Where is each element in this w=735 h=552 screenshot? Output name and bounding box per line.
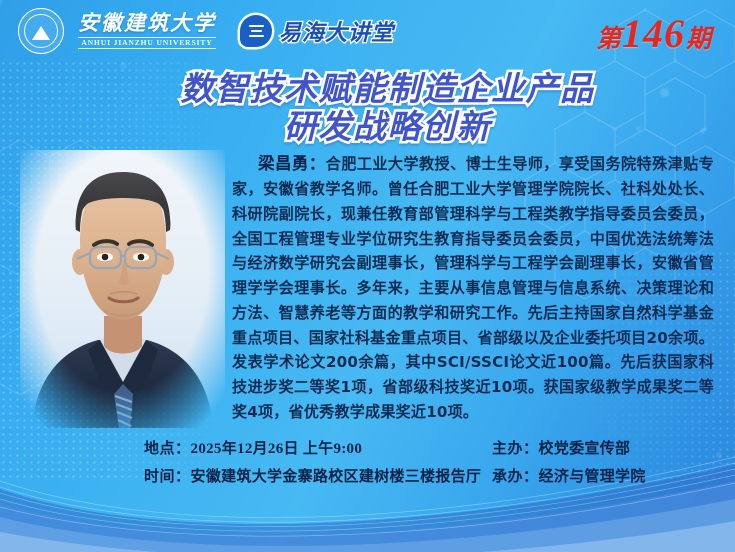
speaker-bio-text: 合肥工业大学教授、博士生导师，享受国务院特殊津贴专家，安徽省教学名师。曾任合肥工… bbox=[232, 155, 714, 421]
poster-header: 安徽建筑大学 ANHUI JIANZHU UNIVERSITY 易海大讲堂 bbox=[18, 8, 394, 54]
event-organizer-value: 校党委宣传部 bbox=[539, 441, 631, 457]
university-name-en: ANHUI JIANZHU UNIVERSITY bbox=[78, 37, 216, 49]
university-name: 安徽建筑大学 ANHUI JIANZHU UNIVERSITY bbox=[78, 13, 216, 49]
lecture-title: 数智技术赋能制造企业产品 研发战略创新 bbox=[0, 70, 735, 147]
lecture-brand-name: 易海大讲堂 bbox=[279, 15, 394, 47]
event-time-value: 安徽建筑大学金寨路校区建树楼三楼报告厅 bbox=[191, 469, 482, 485]
issue-badge: 第 146 期 bbox=[596, 14, 711, 54]
speaker-name: 梁昌勇： bbox=[258, 154, 326, 173]
university-name-cn: 安徽建筑大学 bbox=[78, 13, 216, 34]
event-organizer-field: 主办：校党委宣传部 bbox=[492, 437, 630, 458]
event-time-field: 时间：安徽建筑大学金寨路校区建树楼三楼报告厅 bbox=[144, 465, 492, 486]
issue-prefix: 第 bbox=[596, 26, 621, 51]
issue-suffix: 期 bbox=[686, 26, 711, 51]
university-seal-icon bbox=[18, 8, 64, 54]
speaker-bio: 梁昌勇：合肥工业大学教授、博士生导师，享受国务院特殊津贴专家，安徽省教学名师。曾… bbox=[232, 150, 714, 425]
event-host-field: 承办：经济与管理学院 bbox=[492, 465, 646, 486]
event-info: 地点：2025年12月26日 上午9:00 主办：校党委宣传部 时间：安徽建筑大… bbox=[144, 437, 724, 493]
event-location-label: 地点： bbox=[144, 441, 191, 457]
event-organizer-label: 主办： bbox=[492, 441, 539, 457]
title-line-1: 数智技术赋能制造企业产品 bbox=[40, 70, 735, 108]
title-line-2: 研发战略创新 bbox=[40, 108, 735, 146]
event-host-value: 经济与管理学院 bbox=[539, 469, 646, 485]
event-time-label: 时间： bbox=[144, 469, 191, 485]
event-info-row: 地点：2025年12月26日 上午9:00 主办：校党委宣传部 bbox=[144, 437, 724, 458]
poster-canvas: 安徽建筑大学 ANHUI JIANZHU UNIVERSITY 易海大讲堂 第 … bbox=[0, 0, 735, 552]
event-host-label: 承办： bbox=[492, 469, 539, 485]
lecture-brand: 易海大讲堂 bbox=[240, 15, 394, 47]
event-info-row: 时间：安徽建筑大学金寨路校区建树楼三楼报告厅 承办：经济与管理学院 bbox=[144, 465, 724, 486]
speaker-portrait bbox=[20, 150, 225, 428]
event-location-value: 2025年12月26日 上午9:00 bbox=[191, 441, 363, 457]
bokeh-dot bbox=[120, 62, 127, 69]
speech-bubble-icon bbox=[240, 15, 272, 47]
event-location-field: 地点：2025年12月26日 上午9:00 bbox=[144, 437, 492, 458]
issue-number: 146 bbox=[622, 14, 685, 54]
